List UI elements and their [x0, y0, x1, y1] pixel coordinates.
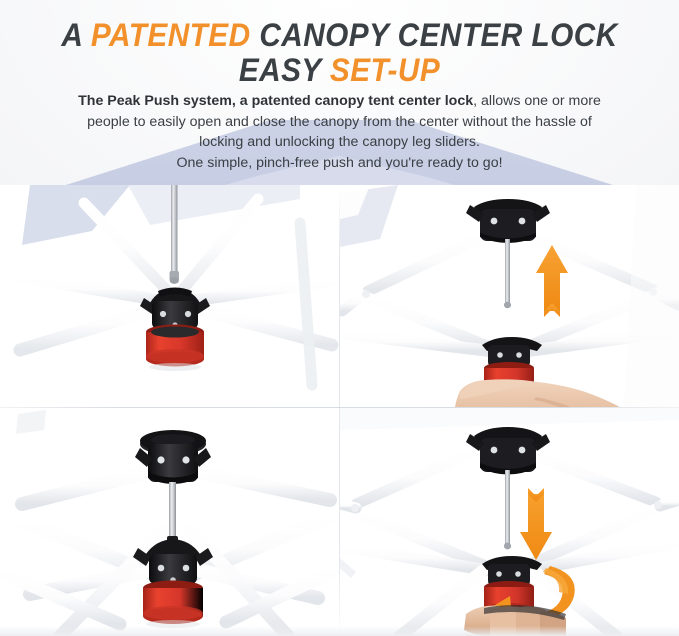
blurb-line-3: locking and unlocking the canopy leg sli…: [34, 132, 645, 153]
center-lock-closed-view: [0, 185, 340, 407]
arrow-down: [520, 488, 552, 560]
photo-grid: [0, 185, 679, 636]
pull-down-to-close-view: [340, 408, 679, 636]
blurb-line-1: The Peak Push system, a patented canopy …: [34, 91, 645, 112]
hand-palm-up: [454, 379, 624, 407]
blurb-line1-rest: , allows one or more: [473, 93, 601, 109]
blurb-line-2: people to easily open and close the cano…: [34, 112, 645, 133]
headline-line-1: A PATENTED CANOPY CENTER LOCK: [24, 18, 655, 53]
panel-top-right: [340, 185, 679, 407]
blurb-bold-lead: The Peak Push system, a patented canopy …: [78, 93, 473, 109]
headline-highlight-setup: SET-UP: [330, 52, 440, 88]
center-lock-extended-view: [0, 408, 340, 636]
blurb-line-4: One simple, pinch-free push and you're r…: [34, 153, 645, 174]
headline: A PATENTED CANOPY CENTER LOCK EASY SET-U…: [0, 18, 679, 88]
headline-line1-part1: A: [61, 17, 91, 53]
headline-line1-part2: CANOPY CENTER LOCK: [251, 17, 618, 53]
product-feature-graphic: A PATENTED CANOPY CENTER LOCK EASY SET-U…: [0, 0, 679, 636]
description-paragraph: The Peak Push system, a patented canopy …: [34, 91, 645, 173]
panel-bottom-right: [340, 408, 679, 636]
headline-line-2: EASY SET-UP: [24, 53, 655, 88]
panel-bottom-left: [0, 408, 340, 636]
push-up-to-open-view: [340, 185, 679, 407]
bottom-edge-fade: [0, 626, 679, 636]
panel-top-left: [0, 185, 340, 407]
headline-line2-part1: EASY: [239, 52, 330, 88]
grid-seam-vertical: [339, 185, 340, 636]
headline-highlight-patented: PATENTED: [91, 17, 251, 53]
